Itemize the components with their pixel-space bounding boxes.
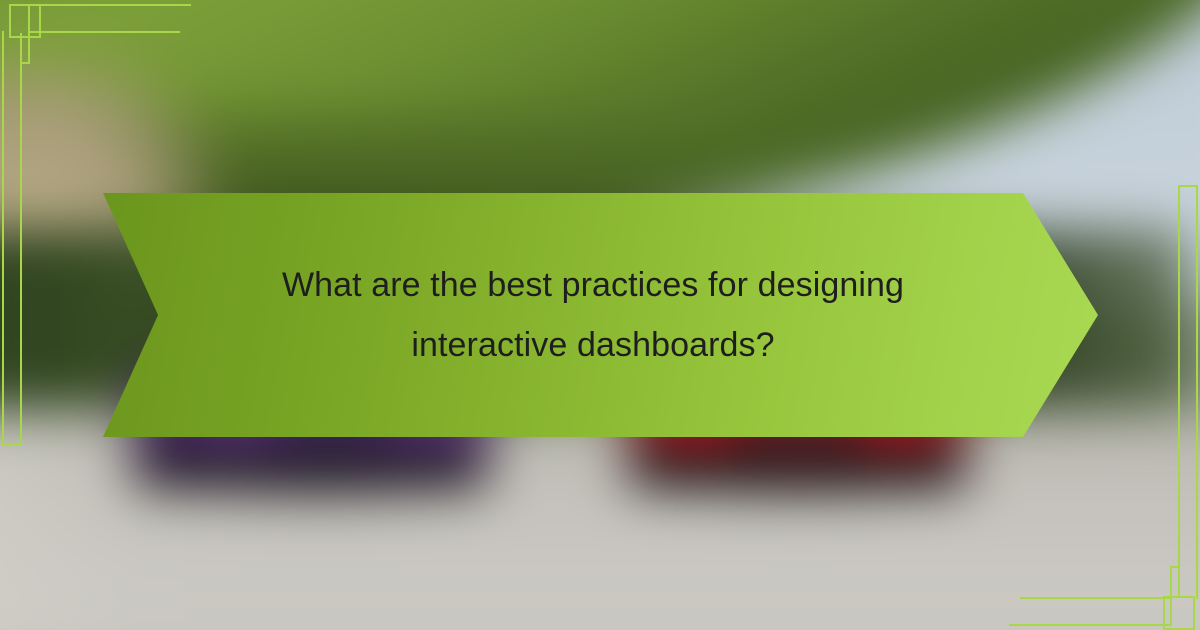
ornament-line-br-h-inner (1020, 597, 1172, 599)
slide-canvas: What are the best practices for designin… (0, 0, 1200, 630)
ornament-line-tl-v-long-b (2, 33, 4, 445)
ornament-line-br-h-join (1178, 185, 1198, 187)
ornament-line-tl-h-outer (28, 4, 191, 6)
ornament-line-tl-v-long (20, 33, 22, 443)
ornament-line-tl-h-join (2, 443, 22, 445)
ornament-line-tl-h-join-b (20, 62, 30, 64)
ornament-line-br-v-long-b (1196, 185, 1198, 597)
headline-text-block: What are the best practices for designin… (158, 193, 1028, 437)
ornament-line-tl-v-outer (28, 4, 30, 64)
car-right-shadow (640, 458, 960, 502)
ornament-line-br-v-outer (1170, 566, 1172, 626)
ornament-line-br-h-join-b (1170, 566, 1180, 568)
ornament-line-br-v-long (1178, 187, 1180, 597)
headline-line-1: What are the best practices for designin… (282, 255, 904, 315)
ornament-line-br-h-outer (1009, 624, 1172, 626)
ornament-line-tl-h-inner (28, 31, 180, 33)
car-left-shadow (150, 460, 490, 504)
headline-line-2: interactive dashboards? (411, 315, 774, 375)
